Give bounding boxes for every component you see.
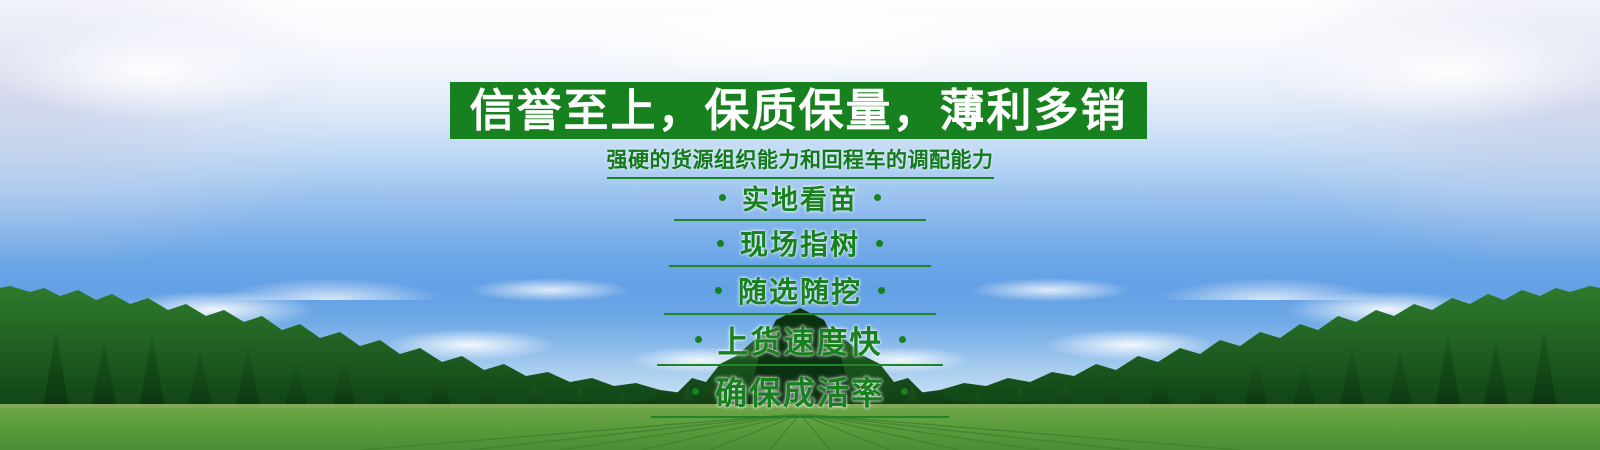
bullet-dot-icon [695,336,702,343]
feature-label-2: 现场指树 [724,223,876,263]
feature-item-1: 实地看苗 [674,178,926,221]
feature-item-4: 上货速度快 [657,317,943,366]
bullet-dot-icon [715,287,722,294]
bullet-dot-icon [692,388,699,395]
feature-label-4: 上货速度快 [702,317,899,362]
bullet-dot-icon [719,194,726,201]
headline-text: 信誉至上，保质保量，薄利多销 [469,88,1127,133]
bullet-dot-icon [899,336,906,343]
bullet-dot-icon [876,240,883,247]
feature-item-2: 现场指树 [669,223,931,267]
feature-item-5: 确保成活率 [651,368,949,418]
bullet-dot-icon [717,240,724,247]
feature-item-3: 随选随挖 [664,269,936,315]
bullet-dot-icon [901,388,908,395]
subtitle-container: 强硬的货源组织能力和回程车的调配能力 [0,144,1600,179]
bullet-dot-icon [878,287,885,294]
feature-label-1: 实地看苗 [726,178,874,217]
feature-list: 实地看苗 现场指树 随选随挖 上货速度快 确保成活率 [0,178,1600,420]
subtitle-text: 强硬的货源组织能力和回程车的调配能力 [607,144,994,179]
feature-label-3: 随选随挖 [722,269,878,311]
feature-label-5: 确保成活率 [699,368,901,414]
banner-content: 信誉至上，保质保量，薄利多销 强硬的货源组织能力和回程车的调配能力 实地看苗 现… [0,0,1600,450]
headline-banner-bar: 信誉至上，保质保量，薄利多销 [450,82,1147,139]
promo-banner: 信誉至上，保质保量，薄利多销 强硬的货源组织能力和回程车的调配能力 实地看苗 现… [0,0,1600,450]
bullet-dot-icon [874,194,881,201]
